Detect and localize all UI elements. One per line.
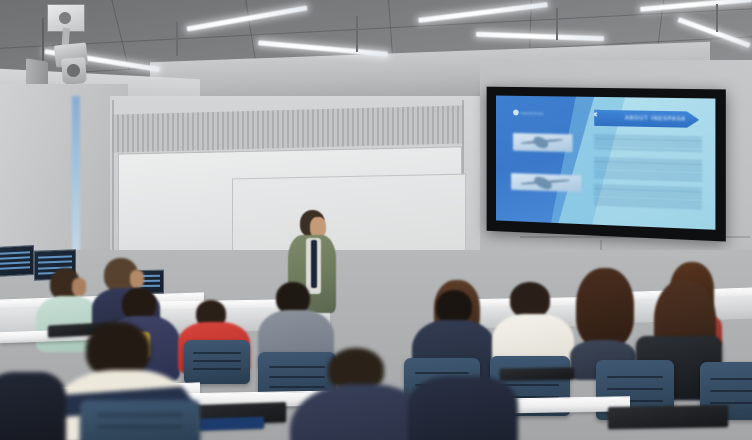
speaker-rod [42,18,44,64]
fixture-rod [176,22,178,56]
slide-logo: INESPASA [513,110,544,116]
chair[interactable] [80,400,200,440]
laptop[interactable] [608,405,728,429]
classroom-photo-scene: INESPASA ✖ ABOUT INESPASA [0,0,752,440]
presenter-tie [311,240,317,288]
face [130,270,144,288]
face [72,278,86,296]
slide-banner: ✖ ABOUT INESPASA [594,110,699,129]
wall-light-accent [72,96,80,271]
projection-screen: INESPASA ✖ ABOUT INESPASA [487,87,726,242]
aircraft-component-photo [513,133,573,152]
slide-title: ABOUT INESPASA [625,116,686,123]
fixture-rod [716,4,718,32]
slide-paragraph [594,185,701,208]
torso [0,372,66,440]
desktop-monitor[interactable] [0,245,34,277]
torso [408,376,518,440]
projector-lens [61,57,87,85]
logo-text: INESPASA [520,110,543,115]
slide-paragraph [594,135,701,153]
head [510,282,550,318]
fixture-rod [356,16,358,52]
hair [576,268,634,348]
aircraft-photo [511,173,581,192]
chair[interactable] [184,340,250,384]
slide-paragraph [594,158,701,181]
laptop[interactable] [500,367,574,380]
projected-slide: INESPASA ✖ ABOUT INESPASA [496,96,715,230]
head [436,290,472,324]
fixture-rod [556,8,558,40]
logo-mark-icon [513,110,519,116]
